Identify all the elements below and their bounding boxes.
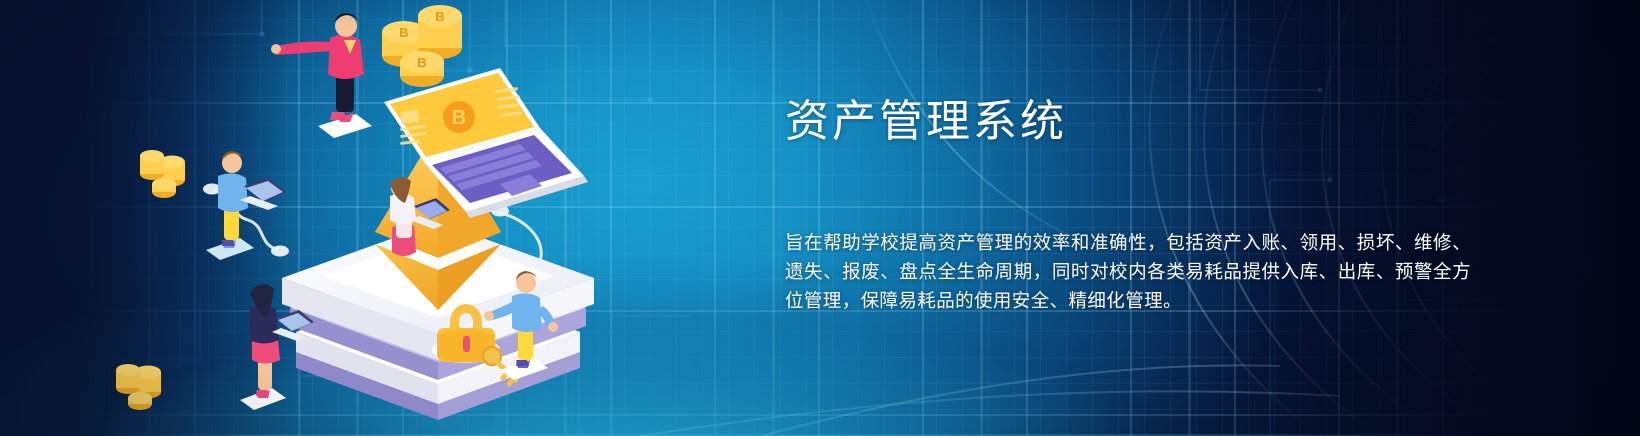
svg-text:B: B	[452, 107, 466, 129]
page-title: 资产管理系统	[785, 97, 1067, 148]
illustration-blockchain: B B B	[0, 0, 620, 436]
person-laptop-left	[206, 151, 286, 260]
coin-stack-top: B B B	[382, 5, 462, 87]
coin-stack-left	[140, 150, 185, 198]
coin-stack-bottom-left	[116, 364, 161, 410]
svg-text:B: B	[417, 55, 426, 70]
banner-copy: 资产管理系统 旨在帮助学校提高资产管理的效率和准确性，包括资产入账、领用、损坏、…	[785, 0, 1485, 436]
svg-text:B: B	[399, 25, 408, 40]
person-pointing	[271, 13, 372, 138]
hero-banner: B B B	[0, 0, 1640, 436]
banner-description: 旨在帮助学校提高资产管理的效率和准确性，包括资产入账、领用、损坏、维修、遗失、报…	[785, 228, 1471, 315]
svg-text:B: B	[435, 9, 444, 24]
